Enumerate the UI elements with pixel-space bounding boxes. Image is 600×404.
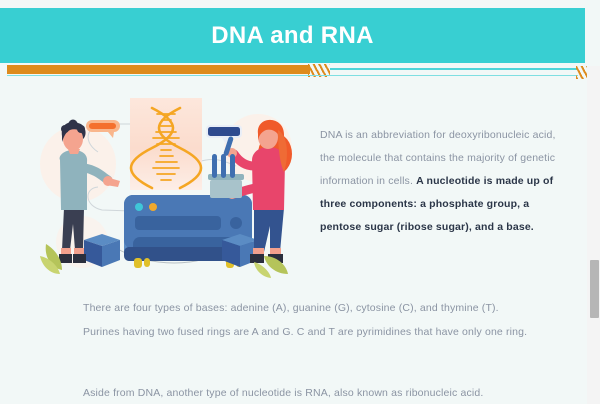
page-title: DNA and RNA	[211, 22, 373, 50]
paragraph-rna: Aside from DNA, another type of nucleoti…	[83, 381, 529, 404]
lead-paragraph: DNA is an abbreviation for deoxyribonucl…	[320, 124, 568, 239]
vertical-scrollbar-thumb[interactable]	[590, 260, 599, 318]
indicator-light-orange	[149, 203, 157, 211]
cube-left	[84, 234, 120, 267]
page-header: DNA and RNA	[0, 8, 585, 63]
dna-lab-illustration	[40, 92, 312, 278]
vertical-scrollbar-track[interactable]	[587, 66, 600, 404]
illustration-graphic	[40, 92, 312, 278]
header-divider	[0, 64, 600, 80]
divider-teal-underline	[7, 75, 578, 76]
divider-teal-line	[330, 68, 578, 70]
page-root: DNA and RNA	[0, 0, 600, 404]
paragraph-bases: There are four types of bases: adenine (…	[83, 296, 529, 344]
header-banner: DNA and RNA	[0, 8, 585, 63]
divider-orange-bar	[7, 65, 310, 74]
indicator-light-cyan	[135, 203, 143, 211]
